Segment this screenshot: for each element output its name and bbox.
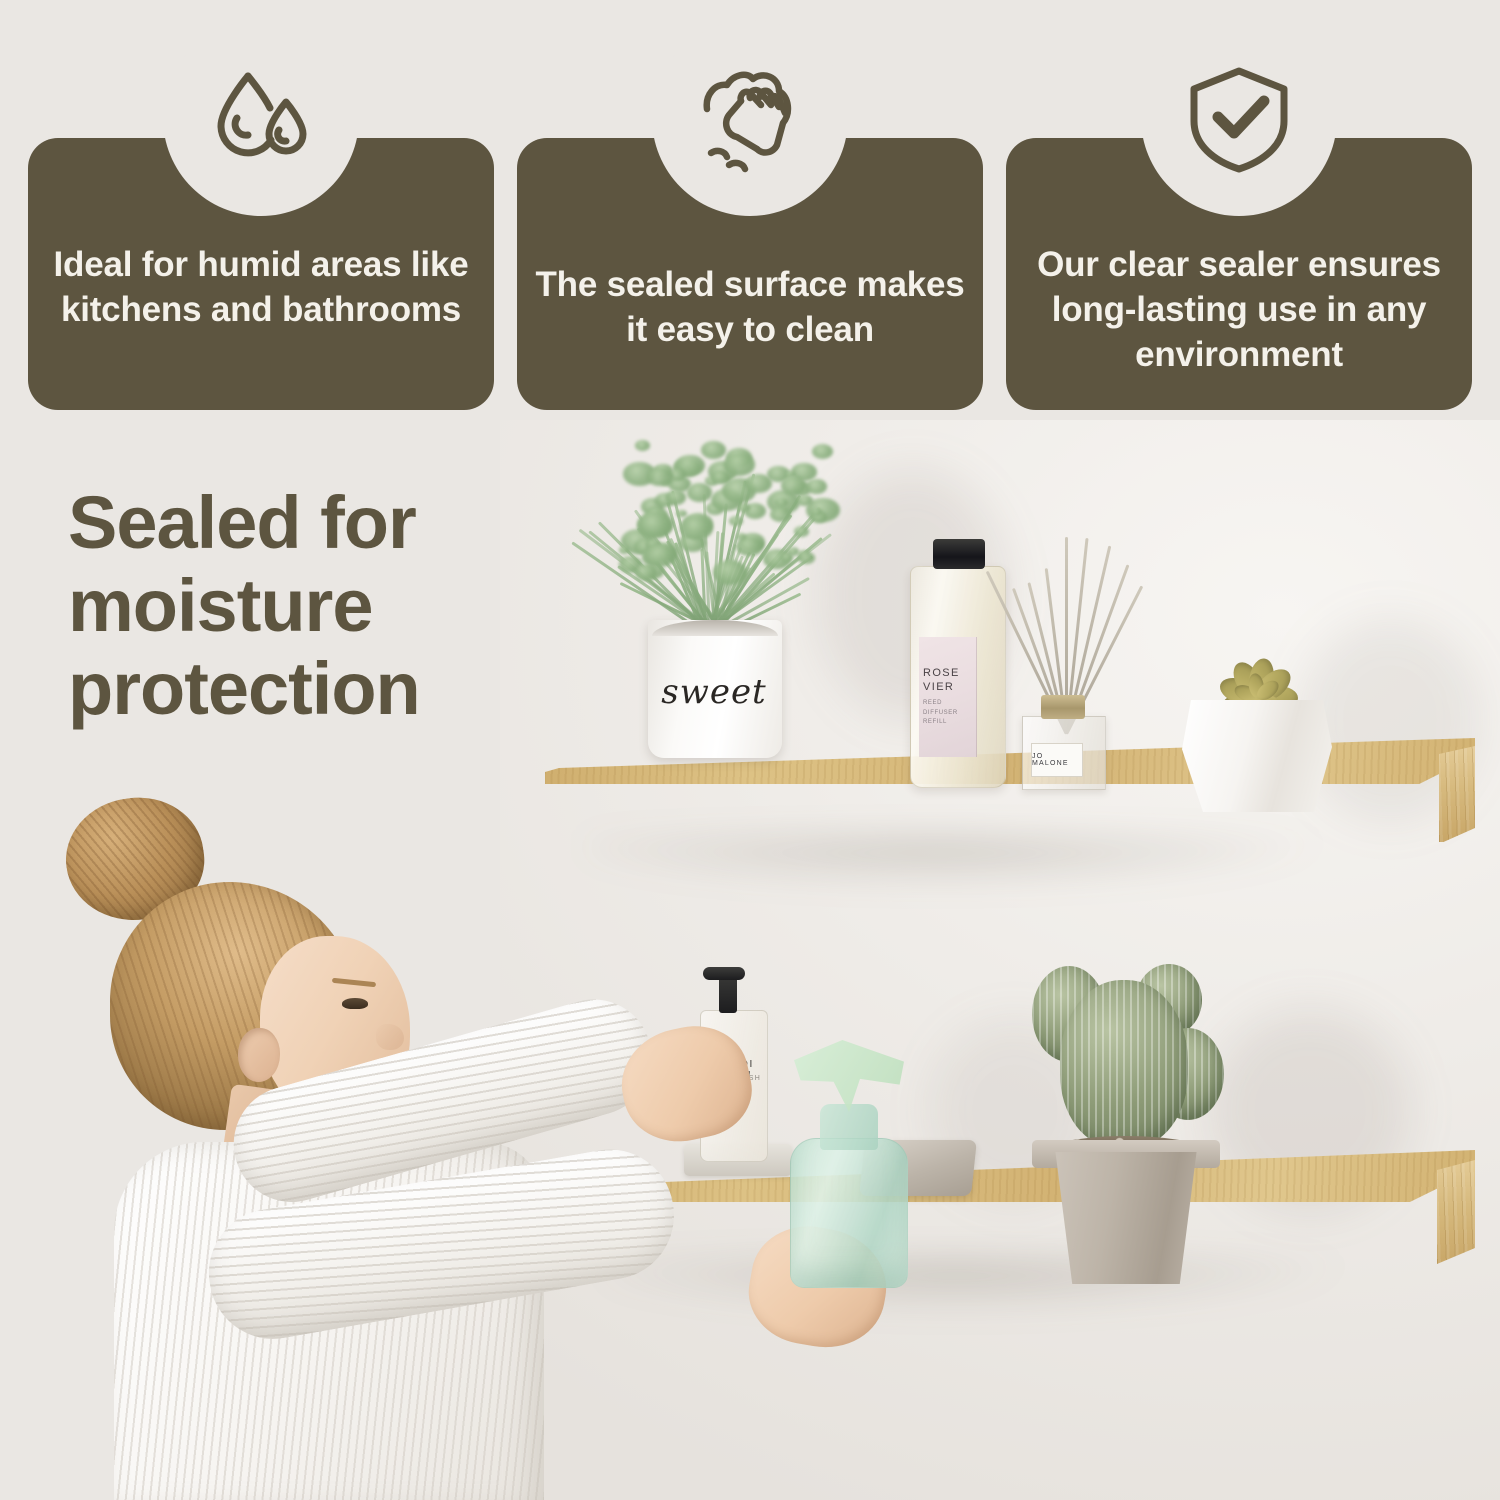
bottle-label: ROSE VIER REED DIFFUSER REFILL [919, 637, 977, 757]
feature-card-long-lasting: Our clear sealer ensures long-lasting us… [1006, 138, 1472, 410]
water-droplets-icon [163, 20, 359, 216]
eye [342, 998, 368, 1009]
spray-bottle [790, 1040, 908, 1288]
feature-card-strip: Ideal for humid areas like kitchens and … [0, 0, 1500, 420]
nose [376, 1024, 404, 1050]
fern-plant-pot: sweet [648, 620, 782, 758]
feature-card-text: Our clear sealer ensures long-lasting us… [1024, 243, 1454, 377]
product-feature-image: sweet ROSE VIER REED DIFFUSER REFILL JO … [0, 0, 1500, 1500]
feature-card-text: Ideal for humid areas like kitchens and … [46, 243, 476, 333]
cactus-body [1060, 980, 1188, 1148]
pot-script-label: sweet [656, 672, 772, 712]
diffuser-label: JO MALONE [1031, 743, 1083, 777]
feature-card-text: The sealed surface makes it easy to clea… [535, 263, 965, 353]
page-title: Sealed for moisture protection [68, 482, 498, 731]
spray-bottle-trigger [794, 1040, 904, 1112]
rose-bottle: ROSE VIER REED DIFFUSER REFILL [910, 566, 1006, 788]
fern-foliage [600, 438, 832, 638]
shelf-side-edge [1439, 746, 1475, 842]
bottle-label-line1: ROSE [923, 667, 974, 679]
diffuser-collar [1041, 695, 1085, 719]
feature-card-humid-areas: Ideal for humid areas like kitchens and … [28, 138, 494, 410]
shelf-side-edge [1437, 1160, 1475, 1266]
bottle-label-line3: REED DIFFUSER REFILL [923, 699, 974, 728]
hand-wiping-cloth-icon [652, 20, 848, 216]
bottle-cap [933, 539, 985, 569]
spray-bottle-body [790, 1138, 908, 1288]
reed-diffuser: JO MALONE [1022, 716, 1106, 790]
ear [238, 1028, 280, 1082]
bottle-label-line2: VIER [923, 681, 974, 693]
shield-check-icon [1141, 20, 1337, 216]
succulent-pot [1182, 700, 1332, 812]
feature-card-easy-clean: The sealed surface makes it easy to clea… [517, 138, 983, 410]
child-holding-spray-bottle [10, 790, 870, 1500]
eyebrow [332, 978, 376, 988]
